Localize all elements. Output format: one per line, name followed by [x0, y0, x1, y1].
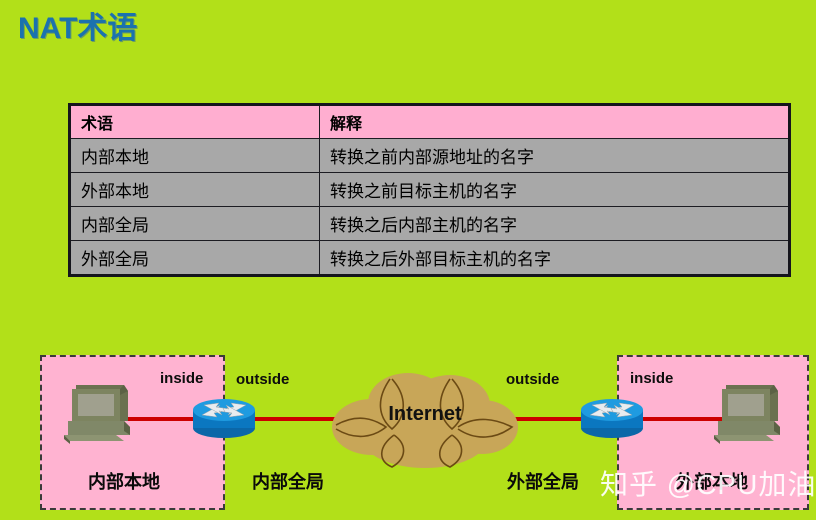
router-icon — [190, 395, 258, 441]
table-row: 内部全局 转换之后内部主机的名字 — [70, 207, 790, 241]
table-cell-explanation: 转换之后内部主机的名字 — [320, 207, 790, 241]
table-cell-term: 外部本地 — [70, 173, 320, 207]
table-cell-explanation: 转换之前内部源地址的名字 — [320, 139, 790, 173]
table-row: 内部本地 转换之前内部源地址的名字 — [70, 139, 790, 173]
zone-caption-inside-local: 内部本地 — [88, 468, 160, 494]
interface-label-outside-left: outside — [236, 371, 289, 388]
table-header-row: 术语 解释 — [70, 105, 790, 139]
table-cell-explanation: 转换之前目标主机的名字 — [320, 173, 790, 207]
table-cell-term: 内部全局 — [70, 207, 320, 241]
table-cell-term: 外部全局 — [70, 241, 320, 276]
terminology-table: 术语 解释 内部本地 转换之前内部源地址的名字 外部本地 转换之前目标主机的名字… — [68, 103, 791, 277]
interface-label-outside-right: outside — [506, 371, 559, 388]
zone-caption-outside-global: 外部全局 — [507, 468, 579, 494]
page-title: NAT术语 — [18, 3, 137, 47]
computer-icon — [712, 381, 786, 447]
table-cell-term: 内部本地 — [70, 139, 320, 173]
zone-caption-inside-global: 内部全局 — [252, 468, 324, 494]
cloud-label: Internet — [330, 403, 520, 426]
router-icon — [578, 395, 646, 441]
table-header-term: 术语 — [70, 105, 320, 139]
watermark: 知乎 @CPU加油站 — [600, 463, 816, 503]
interface-label-inside-left: inside — [160, 370, 203, 387]
slide-canvas: NAT术语 术语 解释 内部本地 转换之前内部源地址的名字 外部本地 转换之前目… — [0, 0, 816, 520]
table-row: 外部全局 转换之后外部目标主机的名字 — [70, 241, 790, 276]
table-cell-explanation: 转换之后外部目标主机的名字 — [320, 241, 790, 276]
interface-label-inside-right: inside — [630, 370, 673, 387]
table-row: 外部本地 转换之前目标主机的名字 — [70, 173, 790, 207]
table-header-explanation: 解释 — [320, 105, 790, 139]
computer-icon — [62, 381, 136, 447]
nat-topology-diagram: Internet — [0, 345, 816, 520]
